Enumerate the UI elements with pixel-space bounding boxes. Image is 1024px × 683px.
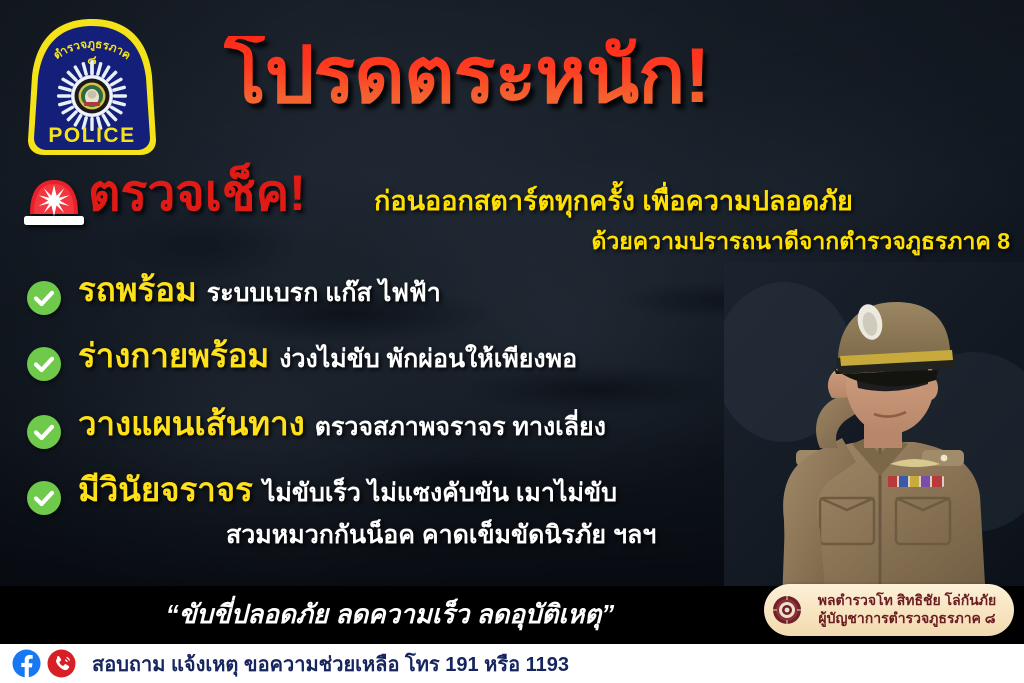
contact-bar: สอบถาม แจ้งเหตุ ขอความช่วยเหลือ โทร 191 … bbox=[0, 644, 1024, 683]
green-check-icon bbox=[26, 414, 62, 450]
checklist-item: มีวินัยจราจรไม่ขับเร็ว ไม่แซงคับขัน เมาไ… bbox=[26, 472, 786, 555]
poster-root: ตำรวจภูธรภาค ๘ bbox=[0, 0, 1024, 683]
checklist-item: วางแผนเส้นทางตรวจสภาพจราจร ทางเลี่ยง bbox=[26, 406, 786, 450]
green-check-icon bbox=[26, 480, 62, 516]
phone-ringing-icon[interactable] bbox=[47, 649, 76, 678]
checklist-title: มีวินัยจราจร bbox=[78, 471, 253, 508]
subtitle-line-2: ด้วยความปรารถนาดีจากตำรวจภูธรภาค 8 bbox=[591, 230, 1010, 253]
green-check-icon bbox=[26, 280, 62, 316]
checklist-detail-second-line: สวมหมวกกันน็อค คาดเข็มขัดนิรภัย ฯลฯ bbox=[226, 515, 786, 555]
headline-title: โปรดตระหนัก! bbox=[224, 36, 709, 114]
saluting-police-officer-photo bbox=[724, 262, 1024, 602]
checklist-title: รถพร้อม bbox=[78, 271, 197, 308]
safety-slogan: “ขับขี่ปลอดภัย ลดความเร็ว ลดอุบัติเหตุ” bbox=[0, 594, 780, 635]
safety-checklist: รถพร้อมระบบเบรก แก๊ส ไฟฟ้า ร่างกายพร้อมง… bbox=[26, 272, 786, 573]
checklist-item: รถพร้อมระบบเบรก แก๊ส ไฟฟ้า bbox=[26, 272, 786, 316]
checklist-title: ร่างกายพร้อม bbox=[78, 337, 269, 374]
checklist-detail: ง่วงไม่ขับ พักผ่อนให้เพียงพอ bbox=[279, 345, 577, 373]
checklist-detail: ตรวจสภาพจราจร ทางเลี่ยง bbox=[315, 413, 606, 441]
police-shield-badge-icon: ตำรวจภูธรภาค ๘ bbox=[18, 14, 166, 166]
checklist-detail: ไม่ขับเร็ว ไม่แซงคับขัน เมาไม่ขับ bbox=[263, 479, 617, 507]
green-check-icon bbox=[26, 346, 62, 382]
contact-text: สอบถาม แจ้งเหตุ ขอความช่วยเหลือ โทร 191 … bbox=[92, 648, 569, 680]
checklist-title: วางแผนเส้นทาง bbox=[78, 405, 305, 442]
facebook-icon[interactable] bbox=[12, 649, 41, 678]
checklist-detail: ระบบเบรก แก๊ส ไฟฟ้า bbox=[207, 279, 441, 307]
checklist-item: ร่างกายพร้อมง่วงไม่ขับ พักผ่อนให้เพียงพอ bbox=[26, 338, 786, 382]
officer-position: ผู้บัญชาการตำรวจภูธรภาค ๘ bbox=[818, 610, 995, 626]
subtitle-line-1: ก่อนออกสตาร์ตทุกครั้ง เพื่อความปลอดภัย bbox=[374, 188, 853, 215]
police-seal-icon bbox=[772, 595, 802, 625]
officer-name-badge: พลตำรวจโท สิทธิชัย โล่กันภัย ผู้บัญชาการ… bbox=[764, 584, 1014, 636]
officer-rank-name: พลตำรวจโท สิทธิชัย โล่กันภัย bbox=[818, 592, 996, 608]
check-headline: ตรวจเช็ค! bbox=[88, 168, 306, 218]
badge-bottom-text: POLICE bbox=[48, 124, 135, 147]
police-siren-icon bbox=[20, 166, 88, 228]
